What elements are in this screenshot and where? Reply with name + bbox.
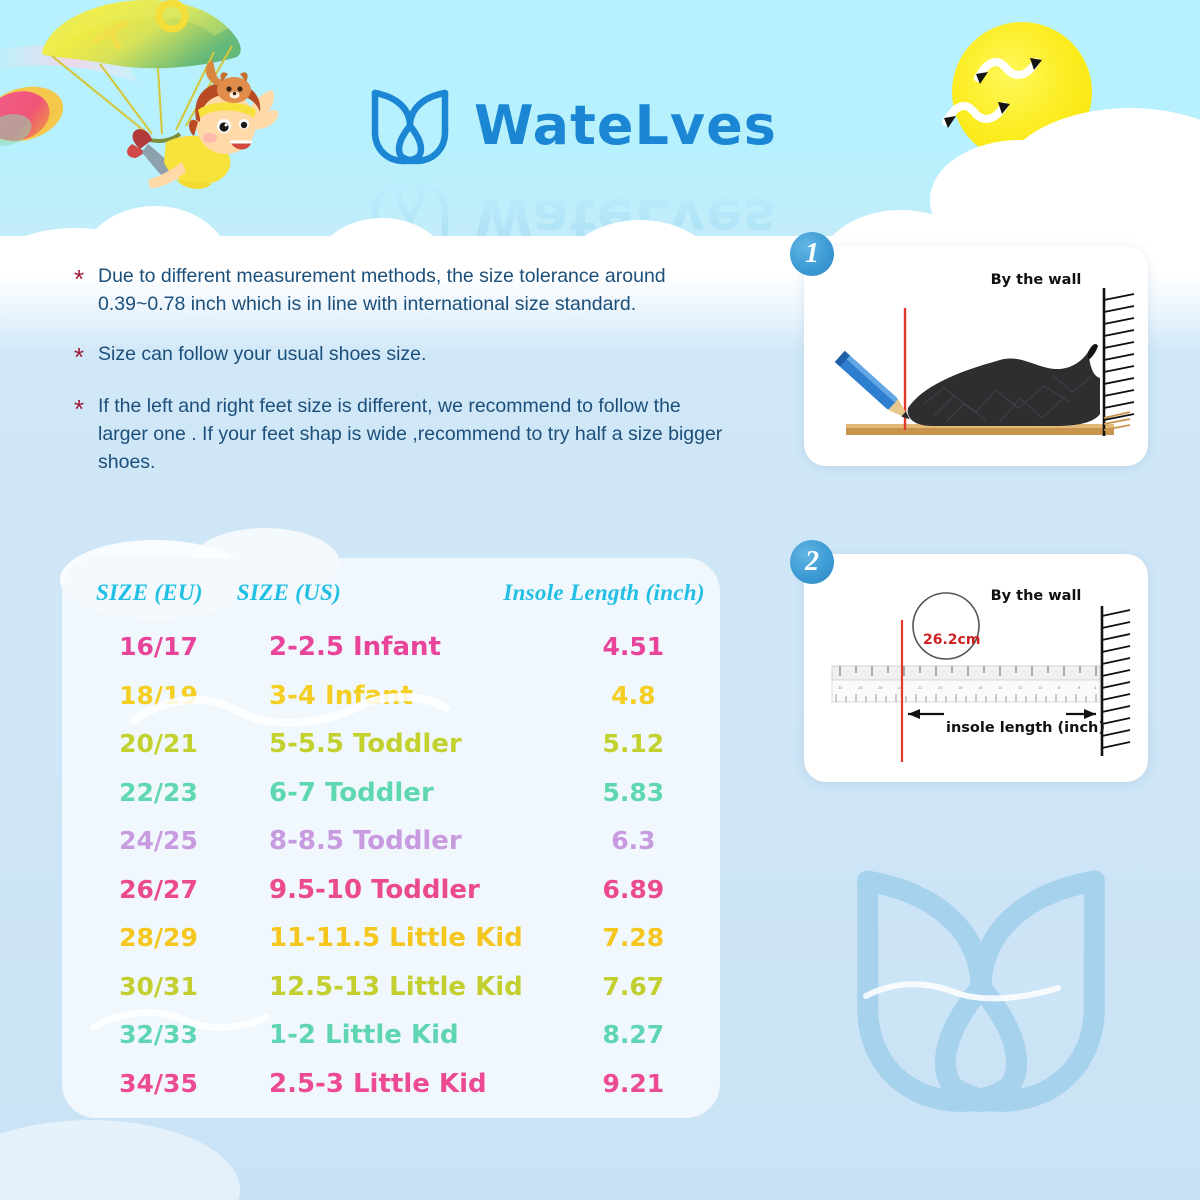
cell-size-eu: 20/21 xyxy=(62,729,255,758)
leaf-petal-watermark-icon xyxy=(838,852,1124,1124)
step-1-badge: 1 xyxy=(790,232,834,276)
step-2-illustration: 302826 242220 181614 12108 64 By the wal… xyxy=(804,554,1148,782)
table-header-row: SIZE (EU) SIZE (US) Insole Length (inch) xyxy=(62,558,720,632)
cell-size-us: 8-8.5 Toddler xyxy=(255,826,547,856)
svg-text:12: 12 xyxy=(1018,686,1023,690)
insole-length-label: insole length (inch) xyxy=(946,720,1105,736)
bird-icon xyxy=(974,52,1064,86)
table-row: 18/193-4 Infant4.8 xyxy=(62,681,720,730)
cell-size-eu: 24/25 xyxy=(62,826,255,855)
cell-insole-length: 9.21 xyxy=(547,1069,720,1098)
cell-insole-length: 7.67 xyxy=(547,972,720,1001)
boy-parachute-with-squirrel-icon xyxy=(0,0,330,224)
measure-value-label: 26.2cm xyxy=(923,632,980,648)
svg-text:22: 22 xyxy=(918,686,923,690)
cell-insole-length: 5.12 xyxy=(547,729,720,758)
column-header-size-eu: SIZE (EU) xyxy=(62,580,237,606)
note-text: Due to different measurement methods, th… xyxy=(98,262,734,318)
step-1-card: By the wall xyxy=(804,246,1148,466)
step-2-number: 2 xyxy=(805,546,819,578)
svg-text:30: 30 xyxy=(838,686,843,690)
cell-size-us: 11-11.5 Little Kid xyxy=(255,923,547,953)
cell-size-eu: 32/33 xyxy=(62,1020,255,1049)
cell-insole-length: 5.83 xyxy=(547,778,720,807)
table-row: 24/258-8.5 Toddler6.3 xyxy=(62,826,720,875)
size-table: SIZE (EU) SIZE (US) Insole Length (inch)… xyxy=(62,558,720,1117)
note-item: * Due to different measurement methods, … xyxy=(74,262,734,318)
note-text: Size can follow your usual shoes size. xyxy=(98,340,426,370)
table-row: 28/2911-11.5 Little Kid7.28 xyxy=(62,923,720,972)
cell-insole-length: 6.89 xyxy=(547,875,720,904)
cell-size-us: 5-5.5 Toddler xyxy=(255,729,547,759)
cell-size-us: 2.5-3 Little Kid xyxy=(255,1069,547,1099)
note-item: * If the left and right feet size is dif… xyxy=(74,392,734,476)
table-row: 20/215-5.5 Toddler5.12 xyxy=(62,729,720,778)
table-row: 22/236-7 Toddler5.83 xyxy=(62,778,720,827)
cell-insole-length: 4.8 xyxy=(547,681,720,710)
step-1-illustration: By the wall xyxy=(804,246,1148,466)
cell-size-eu: 28/29 xyxy=(62,923,255,952)
cell-size-eu: 22/23 xyxy=(62,778,255,807)
svg-text:18: 18 xyxy=(958,686,963,690)
cell-size-eu: 18/19 xyxy=(62,681,255,710)
svg-text:16: 16 xyxy=(978,686,983,690)
cell-size-us: 6-7 Toddler xyxy=(255,778,547,808)
note-item: * Size can follow your usual shoes size. xyxy=(74,340,734,370)
cell-size-us: 3-4 Infant xyxy=(255,681,547,711)
cell-insole-length: 6.3 xyxy=(547,826,720,855)
cell-insole-length: 4.51 xyxy=(547,632,720,661)
svg-text:26: 26 xyxy=(878,686,883,690)
cell-size-us: 9.5-10 Toddler xyxy=(255,875,547,905)
cell-insole-length: 8.27 xyxy=(547,1020,720,1049)
svg-text:By the wall: By the wall xyxy=(991,272,1082,288)
bird-icon xyxy=(942,96,1028,130)
table-row: 30/3112.5-13 Little Kid7.67 xyxy=(62,972,720,1021)
cell-size-eu: 16/17 xyxy=(62,632,255,661)
cell-insole-length: 7.28 xyxy=(547,923,720,952)
cell-size-us: 2-2.5 Infant xyxy=(255,632,547,662)
svg-text:By the wall: By the wall xyxy=(991,588,1082,604)
leaf-petal-logo-icon xyxy=(368,84,452,168)
cell-size-eu: 30/31 xyxy=(62,972,255,1001)
svg-text:28: 28 xyxy=(858,686,863,690)
cell-size-us: 1-2 Little Kid xyxy=(255,1020,547,1050)
step-2-badge: 2 xyxy=(790,540,834,584)
column-header-size-us: SIZE (US) xyxy=(237,580,488,606)
note-text: If the left and right feet size is diffe… xyxy=(98,392,734,476)
svg-text:20: 20 xyxy=(938,686,943,690)
cell-size-us: 12.5-13 Little Kid xyxy=(255,972,547,1002)
step-2-card: 302826 242220 181614 12108 64 By the wal… xyxy=(804,554,1148,782)
size-chart-page: WateLves WateLves xyxy=(0,0,1200,1200)
table-row: 16/172-2.5 Infant4.51 xyxy=(62,632,720,681)
svg-text:14: 14 xyxy=(998,686,1003,690)
bullet-asterisk: * xyxy=(74,392,98,476)
cell-size-eu: 34/35 xyxy=(62,1069,255,1098)
table-row: 32/331-2 Little Kid8.27 xyxy=(62,1020,720,1069)
bullet-asterisk: * xyxy=(74,340,98,370)
column-header-insole-length: Insole Length (inch) xyxy=(488,580,720,606)
step-1: 1 xyxy=(790,232,1150,472)
table-row: 26/279.5-10 Toddler6.89 xyxy=(62,875,720,924)
table-row: 34/352.5-3 Little Kid9.21 xyxy=(62,1069,720,1118)
step-1-number: 1 xyxy=(805,238,819,270)
brand-name: WateLves xyxy=(474,99,777,153)
bullet-asterisk: * xyxy=(74,262,98,318)
cell-size-eu: 26/27 xyxy=(62,875,255,904)
step-2: 2 xyxy=(790,540,1150,790)
brand-logo: WateLves xyxy=(368,84,777,168)
svg-text:10: 10 xyxy=(1038,686,1043,690)
notes-list: * Due to different measurement methods, … xyxy=(74,262,734,498)
